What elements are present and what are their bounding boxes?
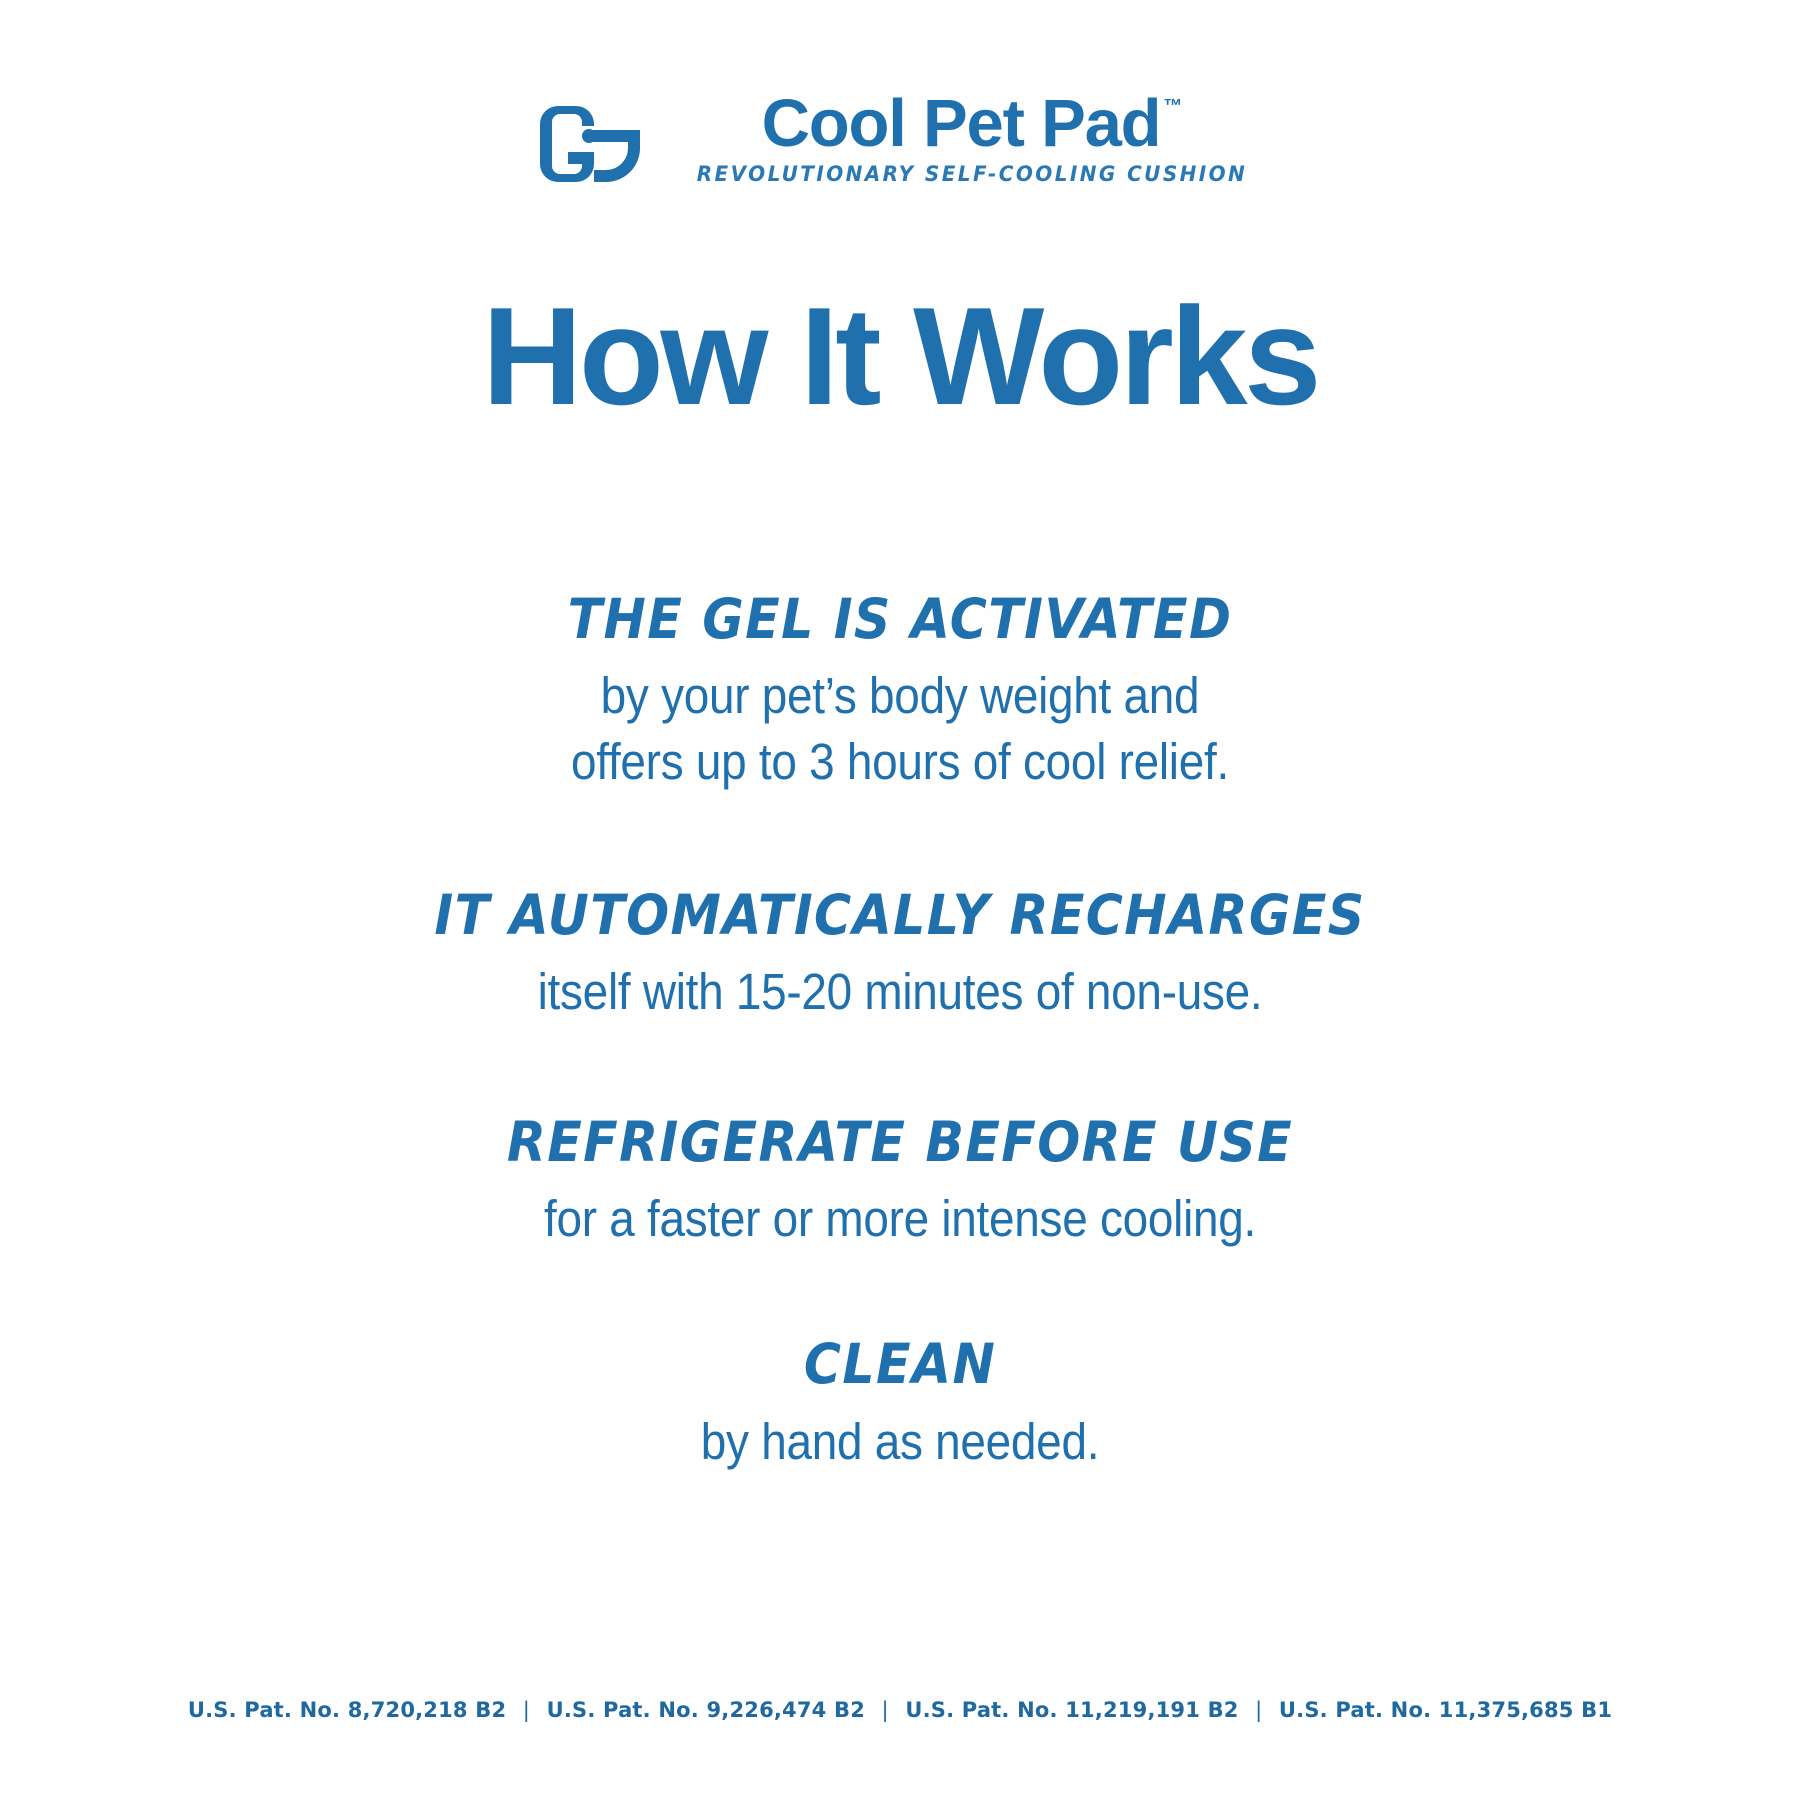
instruction-body-line: by hand as needed. xyxy=(90,1409,1710,1474)
patent-separator: | xyxy=(873,1698,898,1722)
instruction-body-line: offers up to 3 hours of cool relief. xyxy=(90,729,1710,794)
instruction-item: THE GEL IS ACTIVATED by your pet’s body … xyxy=(0,590,1800,794)
instructions-list: THE GEL IS ACTIVATED by your pet’s body … xyxy=(0,590,1800,1474)
instruction-item: IT AUTOMATICALLY RECHARGES itself with 1… xyxy=(0,886,1800,1025)
instruction-body-line: for a faster or more intense cooling. xyxy=(90,1186,1710,1251)
instruction-body: by hand as needed. xyxy=(90,1409,1710,1474)
patent-number: U.S. Pat. No. 9,226,474 B2 xyxy=(547,1698,865,1722)
instruction-item: REFRIGERATE BEFORE USE for a faster or m… xyxy=(0,1113,1800,1252)
instruction-body-line: itself with 15-20 minutes of non-use. xyxy=(90,959,1710,1024)
patent-number: U.S. Pat. No. 11,375,685 B1 xyxy=(1279,1698,1612,1722)
patent-separator: | xyxy=(1246,1698,1271,1722)
patent-number: U.S. Pat. No. 8,720,218 B2 xyxy=(188,1698,506,1722)
instruction-item: CLEAN by hand as needed. xyxy=(0,1335,1800,1474)
patent-number: U.S. Pat. No. 11,219,191 B2 xyxy=(905,1698,1238,1722)
brand-text-column: Cool Pet Pad ™ REVOLUTIONARY SELF-COOLIN… xyxy=(676,92,1268,187)
instruction-body-line: by your pet’s body weight and xyxy=(90,663,1710,728)
brand-wordmark-row: Cool Pet Pad ™ xyxy=(762,92,1183,156)
instruction-body: for a faster or more intense cooling. xyxy=(90,1186,1710,1251)
page-title: How It Works xyxy=(0,287,1800,426)
instruction-body: by your pet’s body weight and offers up … xyxy=(90,663,1710,794)
instruction-heading: CLEAN xyxy=(72,1335,1728,1394)
cool-pet-pad-dog-bowl-logo-icon xyxy=(532,96,650,192)
instruction-body: itself with 15-20 minutes of non-use. xyxy=(90,959,1710,1024)
instruction-heading: REFRIGERATE BEFORE USE xyxy=(72,1113,1728,1172)
brand-logo-inner: Cool Pet Pad ™ REVOLUTIONARY SELF-COOLIN… xyxy=(532,92,1268,192)
instruction-heading: IT AUTOMATICALLY RECHARGES xyxy=(72,886,1728,945)
trademark-symbol: ™ xyxy=(1163,96,1182,118)
patent-separator: | xyxy=(514,1698,539,1722)
brand-wordmark: Cool Pet Pad xyxy=(762,92,1161,156)
patent-footer: U.S. Pat. No. 8,720,218 B2 | U.S. Pat. N… xyxy=(0,1698,1800,1722)
brand-logo-block: Cool Pet Pad ™ REVOLUTIONARY SELF-COOLIN… xyxy=(0,92,1800,192)
instruction-heading: THE GEL IS ACTIVATED xyxy=(72,590,1728,649)
brand-tagline: REVOLUTIONARY SELF-COOLING CUSHION xyxy=(697,162,1248,187)
poster-canvas: Cool Pet Pad ™ REVOLUTIONARY SELF-COOLIN… xyxy=(0,0,1800,1800)
